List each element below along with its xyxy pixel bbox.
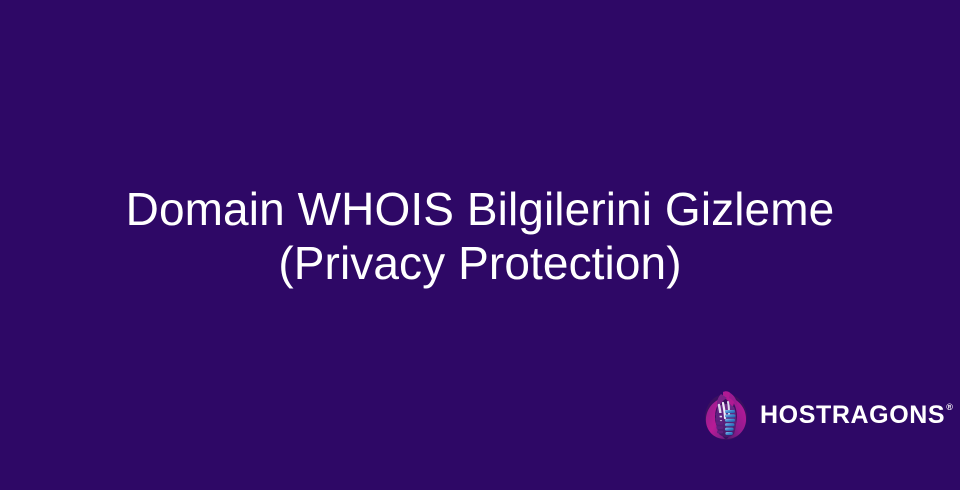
brand-wordmark: HOSTRAGONS ® (760, 402, 953, 428)
article-banner: Domain WHOIS Bilgilerini Gizleme (Privac… (0, 0, 960, 490)
dragon-icon (703, 389, 749, 441)
brand-name: HOSTRAGONS (760, 402, 945, 428)
registered-trademark-icon: ® (946, 403, 953, 412)
page-title: Domain WHOIS Bilgilerini Gizleme (Privac… (85, 182, 875, 308)
brand-logo[interactable]: HOSTRAGONS ® (703, 386, 953, 444)
